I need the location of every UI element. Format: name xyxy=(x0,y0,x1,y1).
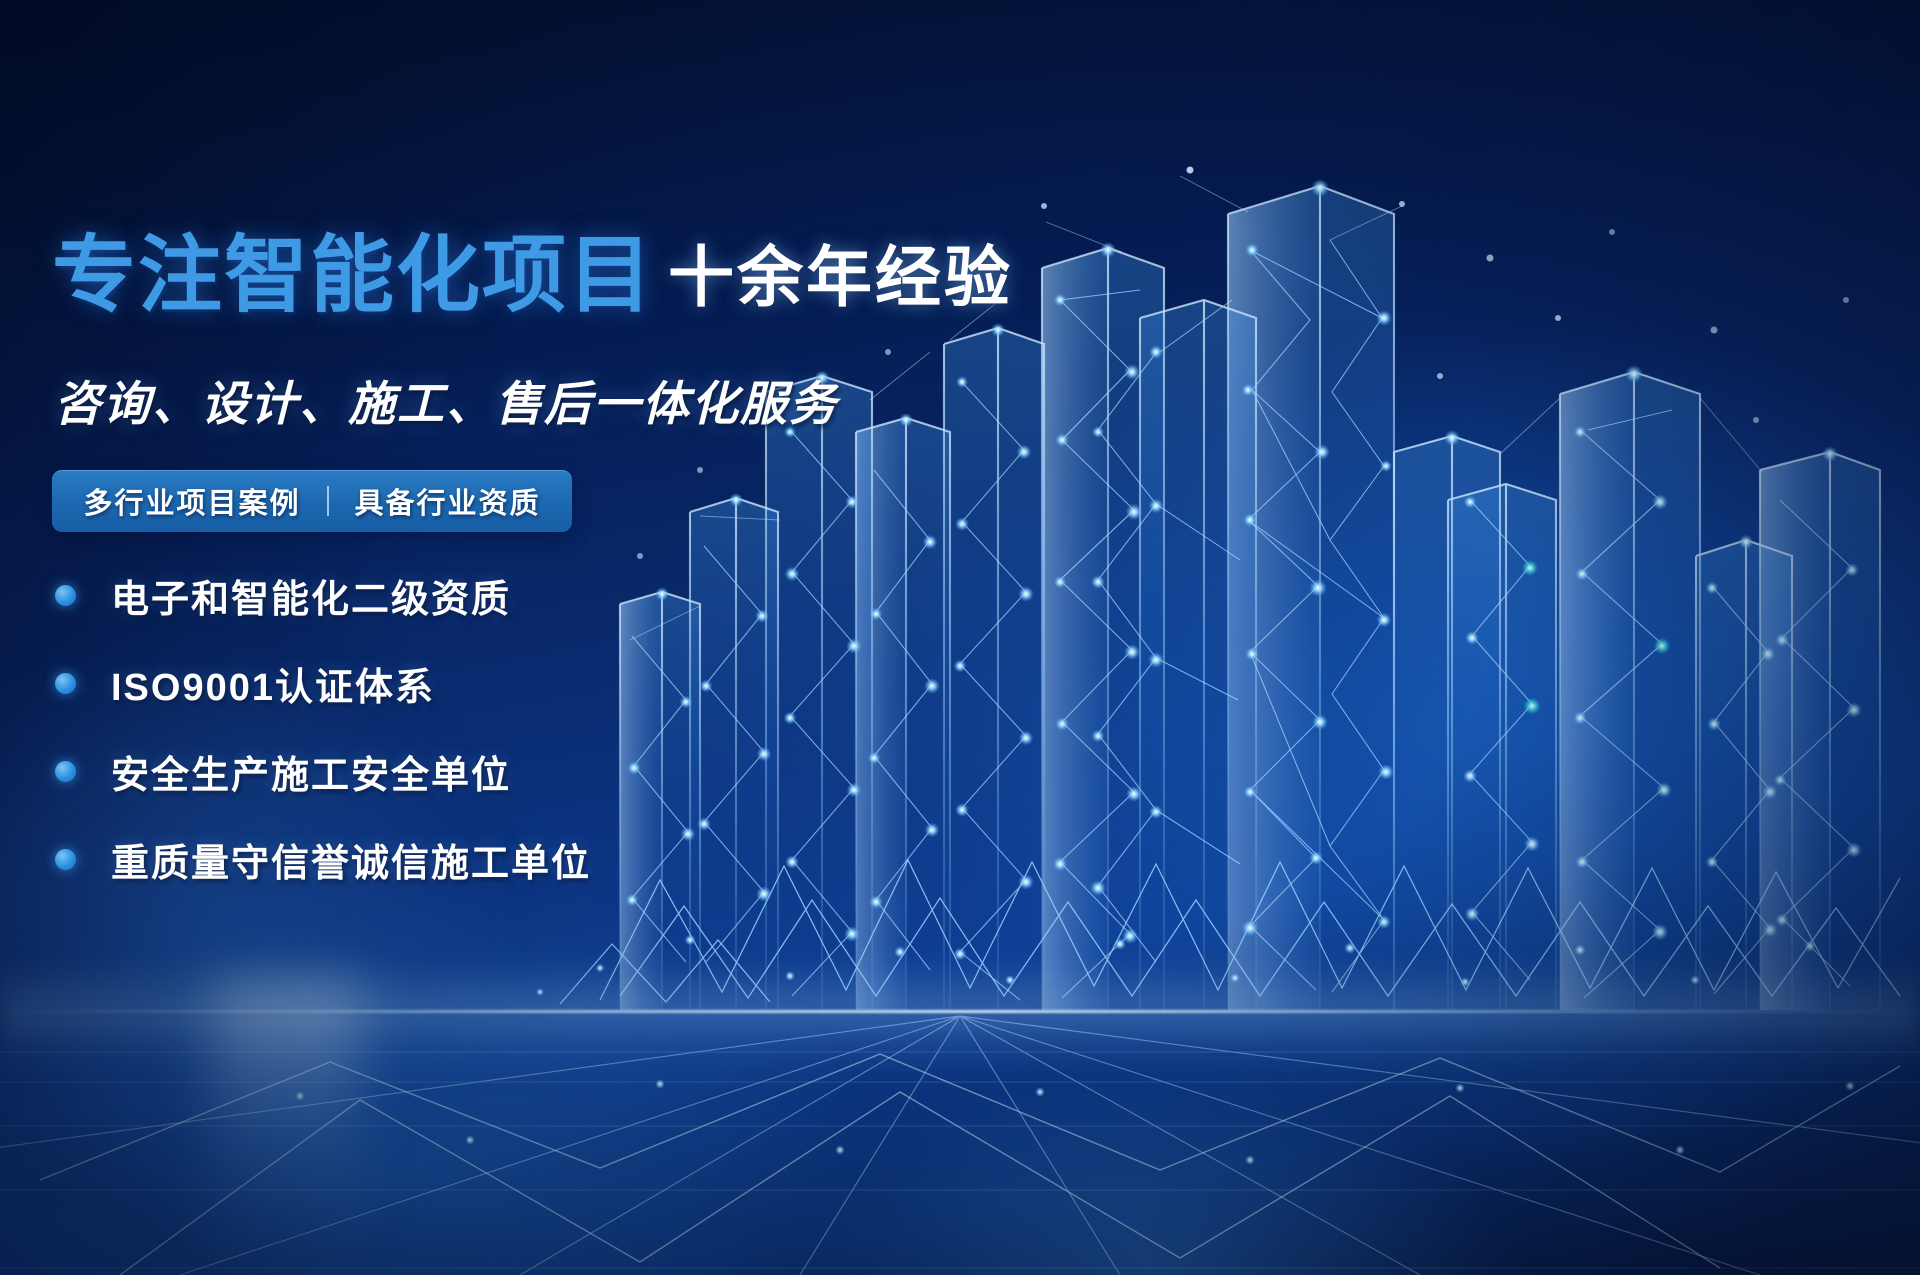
promo-banner: 专注智能化项目十余年经验 咨询、设计、施工、售后一体化服务 多行业项目案例 具备… xyxy=(0,0,1920,1275)
badge-right-text: 具备行业资质 xyxy=(355,480,541,522)
list-item: ISO9001认证体系 xyxy=(48,650,591,716)
list-item: 电子和智能化二级资质 xyxy=(48,562,591,628)
bullet-dot-icon xyxy=(55,673,76,694)
bullet-dot-icon xyxy=(55,585,76,606)
bullet-dot-icon xyxy=(55,849,76,870)
feature-label: ISO9001认证体系 xyxy=(111,656,435,711)
badge-left-text: 多行业项目案例 xyxy=(83,480,300,522)
qualification-badge[interactable]: 多行业项目案例 具备行业资质 xyxy=(52,470,572,532)
headline: 专注智能化项目十余年经验 xyxy=(52,233,1013,317)
headline-primary: 专注智能化项目 xyxy=(52,228,654,322)
banner-content: 专注智能化项目十余年经验 咨询、设计、施工、售后一体化服务 多行业项目案例 具备… xyxy=(48,0,1088,1275)
list-item: 重质量守信誉诚信施工单位 xyxy=(48,826,591,892)
badge-separator-icon xyxy=(327,486,329,516)
list-item: 安全生产施工安全单位 xyxy=(48,738,591,804)
feature-list: 电子和智能化二级资质 ISO9001认证体系 安全生产施工安全单位 重质量守信誉… xyxy=(48,562,591,914)
subtitle: 咨询、设计、施工、售后一体化服务 xyxy=(54,365,838,434)
feature-label: 安全生产施工安全单位 xyxy=(111,744,511,799)
feature-label: 重质量守信誉诚信施工单位 xyxy=(111,832,591,887)
feature-label: 电子和智能化二级资质 xyxy=(111,568,511,623)
badge-inner: 多行业项目案例 具备行业资质 xyxy=(83,480,540,522)
headline-secondary: 十余年经验 xyxy=(668,240,1013,314)
bullet-dot-icon xyxy=(55,761,76,782)
